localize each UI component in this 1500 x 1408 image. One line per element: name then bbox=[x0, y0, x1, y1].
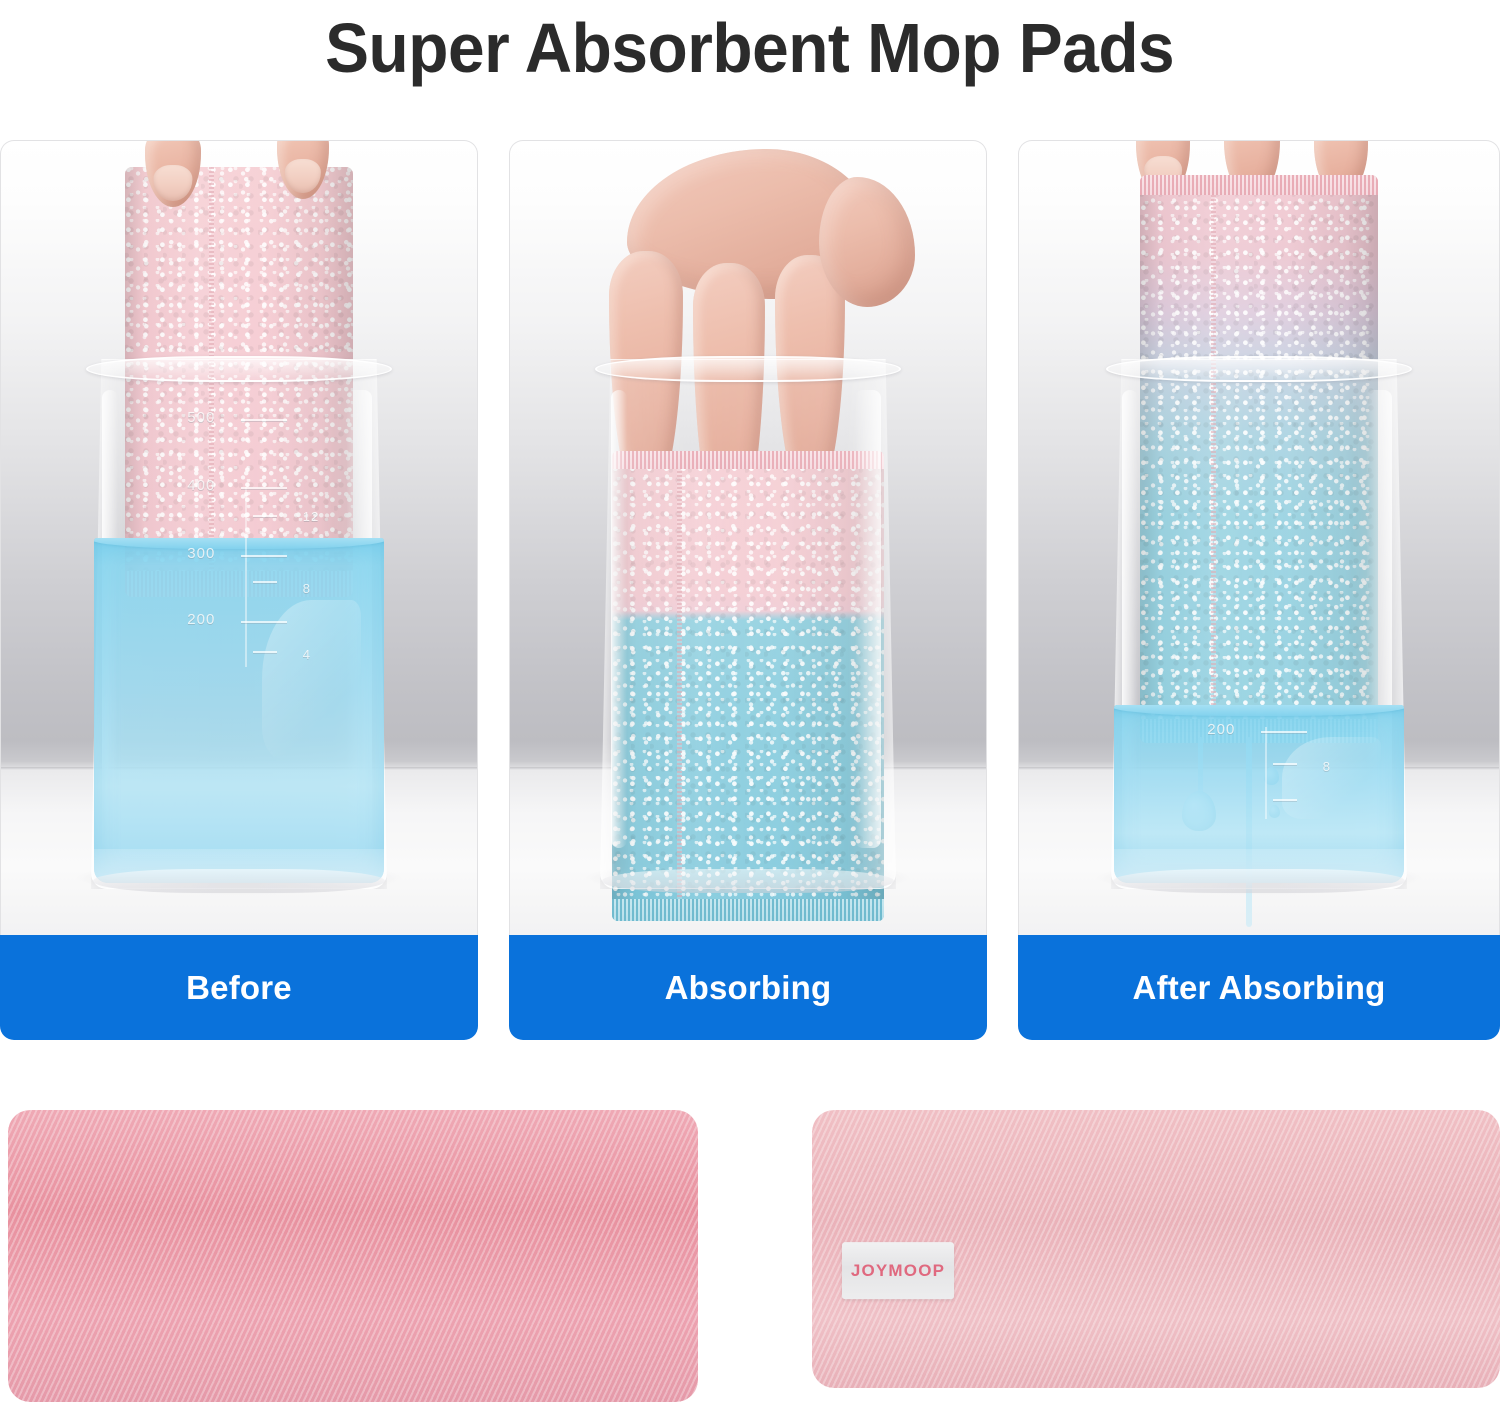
finger bbox=[277, 140, 329, 199]
photo-before: 500 400 12 300 8 200 4 bbox=[0, 140, 478, 935]
grad-spine bbox=[1265, 727, 1267, 819]
grad-label: 500 bbox=[187, 409, 215, 426]
brand-label-tag: JOYMOOP bbox=[842, 1242, 954, 1299]
grad-spine bbox=[245, 487, 247, 667]
grad-label-oz: 4 bbox=[303, 647, 311, 662]
grad-mark bbox=[1273, 763, 1297, 765]
grad-label-oz: 12 bbox=[303, 509, 319, 524]
measuring-cup bbox=[600, 359, 896, 889]
grad-mark bbox=[241, 555, 287, 557]
pad-binding bbox=[8, 1110, 698, 1402]
pad-mesh-edge bbox=[612, 899, 884, 921]
caption-label: After Absorbing bbox=[1133, 969, 1386, 1007]
demo-panel-before: 500 400 12 300 8 200 4 Bef bbox=[0, 140, 478, 1040]
fingernail bbox=[153, 165, 192, 200]
hand-fingers bbox=[109, 145, 369, 215]
cup-graduations: 500 400 12 300 8 200 4 bbox=[91, 359, 387, 889]
cup-highlight bbox=[611, 390, 627, 848]
demo-panel-row: 500 400 12 300 8 200 4 Bef bbox=[0, 140, 1500, 1040]
page-title: Super Absorbent Mop Pads bbox=[325, 13, 1174, 83]
measuring-cup: 200 8 bbox=[1111, 359, 1407, 889]
product-pad-row: JOYMOOP bbox=[0, 1110, 1500, 1408]
grad-mark bbox=[253, 651, 277, 653]
grad-mark bbox=[241, 621, 287, 623]
grad-label-oz: 8 bbox=[303, 581, 311, 596]
cup-base bbox=[93, 869, 385, 893]
grad-label-oz: 8 bbox=[1323, 759, 1331, 774]
caption-bar-absorbing: Absorbing bbox=[509, 935, 987, 1040]
caption-bar-before: Before bbox=[0, 935, 478, 1040]
caption-label: Absorbing bbox=[665, 969, 832, 1007]
cup-rim bbox=[595, 356, 901, 382]
grad-mark bbox=[253, 581, 277, 583]
grad-label: 400 bbox=[187, 477, 215, 494]
grad-label: 200 bbox=[1207, 721, 1235, 738]
product-pad-white-back: JOYMOOP bbox=[812, 1110, 1500, 1388]
demo-panel-absorbing: Absorbing bbox=[509, 140, 987, 1040]
caption-label: Before bbox=[186, 969, 292, 1007]
cup-highlight bbox=[855, 390, 881, 848]
thumb bbox=[819, 177, 915, 307]
finger bbox=[145, 140, 201, 207]
grad-mark bbox=[253, 515, 277, 517]
cup-base bbox=[602, 869, 894, 893]
pad-mesh-edge bbox=[1140, 175, 1378, 195]
measuring-cup: 500 400 12 300 8 200 4 bbox=[91, 359, 387, 889]
grad-mark bbox=[241, 419, 287, 421]
photo-after-absorbing: 200 8 bbox=[1018, 140, 1500, 935]
cup-graduations: 200 8 bbox=[1111, 359, 1407, 889]
demo-panel-after-absorbing: 200 8 After Absorbing bbox=[1018, 140, 1500, 1040]
grad-mark bbox=[1273, 799, 1297, 801]
caption-bar-after-absorbing: After Absorbing bbox=[1018, 935, 1500, 1040]
grad-label: 300 bbox=[187, 545, 215, 562]
product-pad-pink-face bbox=[8, 1110, 698, 1402]
cup-body bbox=[600, 359, 896, 889]
photo-absorbing bbox=[509, 140, 987, 935]
fingernail bbox=[285, 159, 321, 192]
grad-mark bbox=[241, 487, 287, 489]
cup-base bbox=[1113, 869, 1405, 893]
grad-mark bbox=[1261, 731, 1307, 733]
grad-label: 200 bbox=[187, 611, 215, 628]
page-title-bar: Super Absorbent Mop Pads bbox=[0, 0, 1500, 96]
brand-name: JOYMOOP bbox=[851, 1261, 945, 1281]
